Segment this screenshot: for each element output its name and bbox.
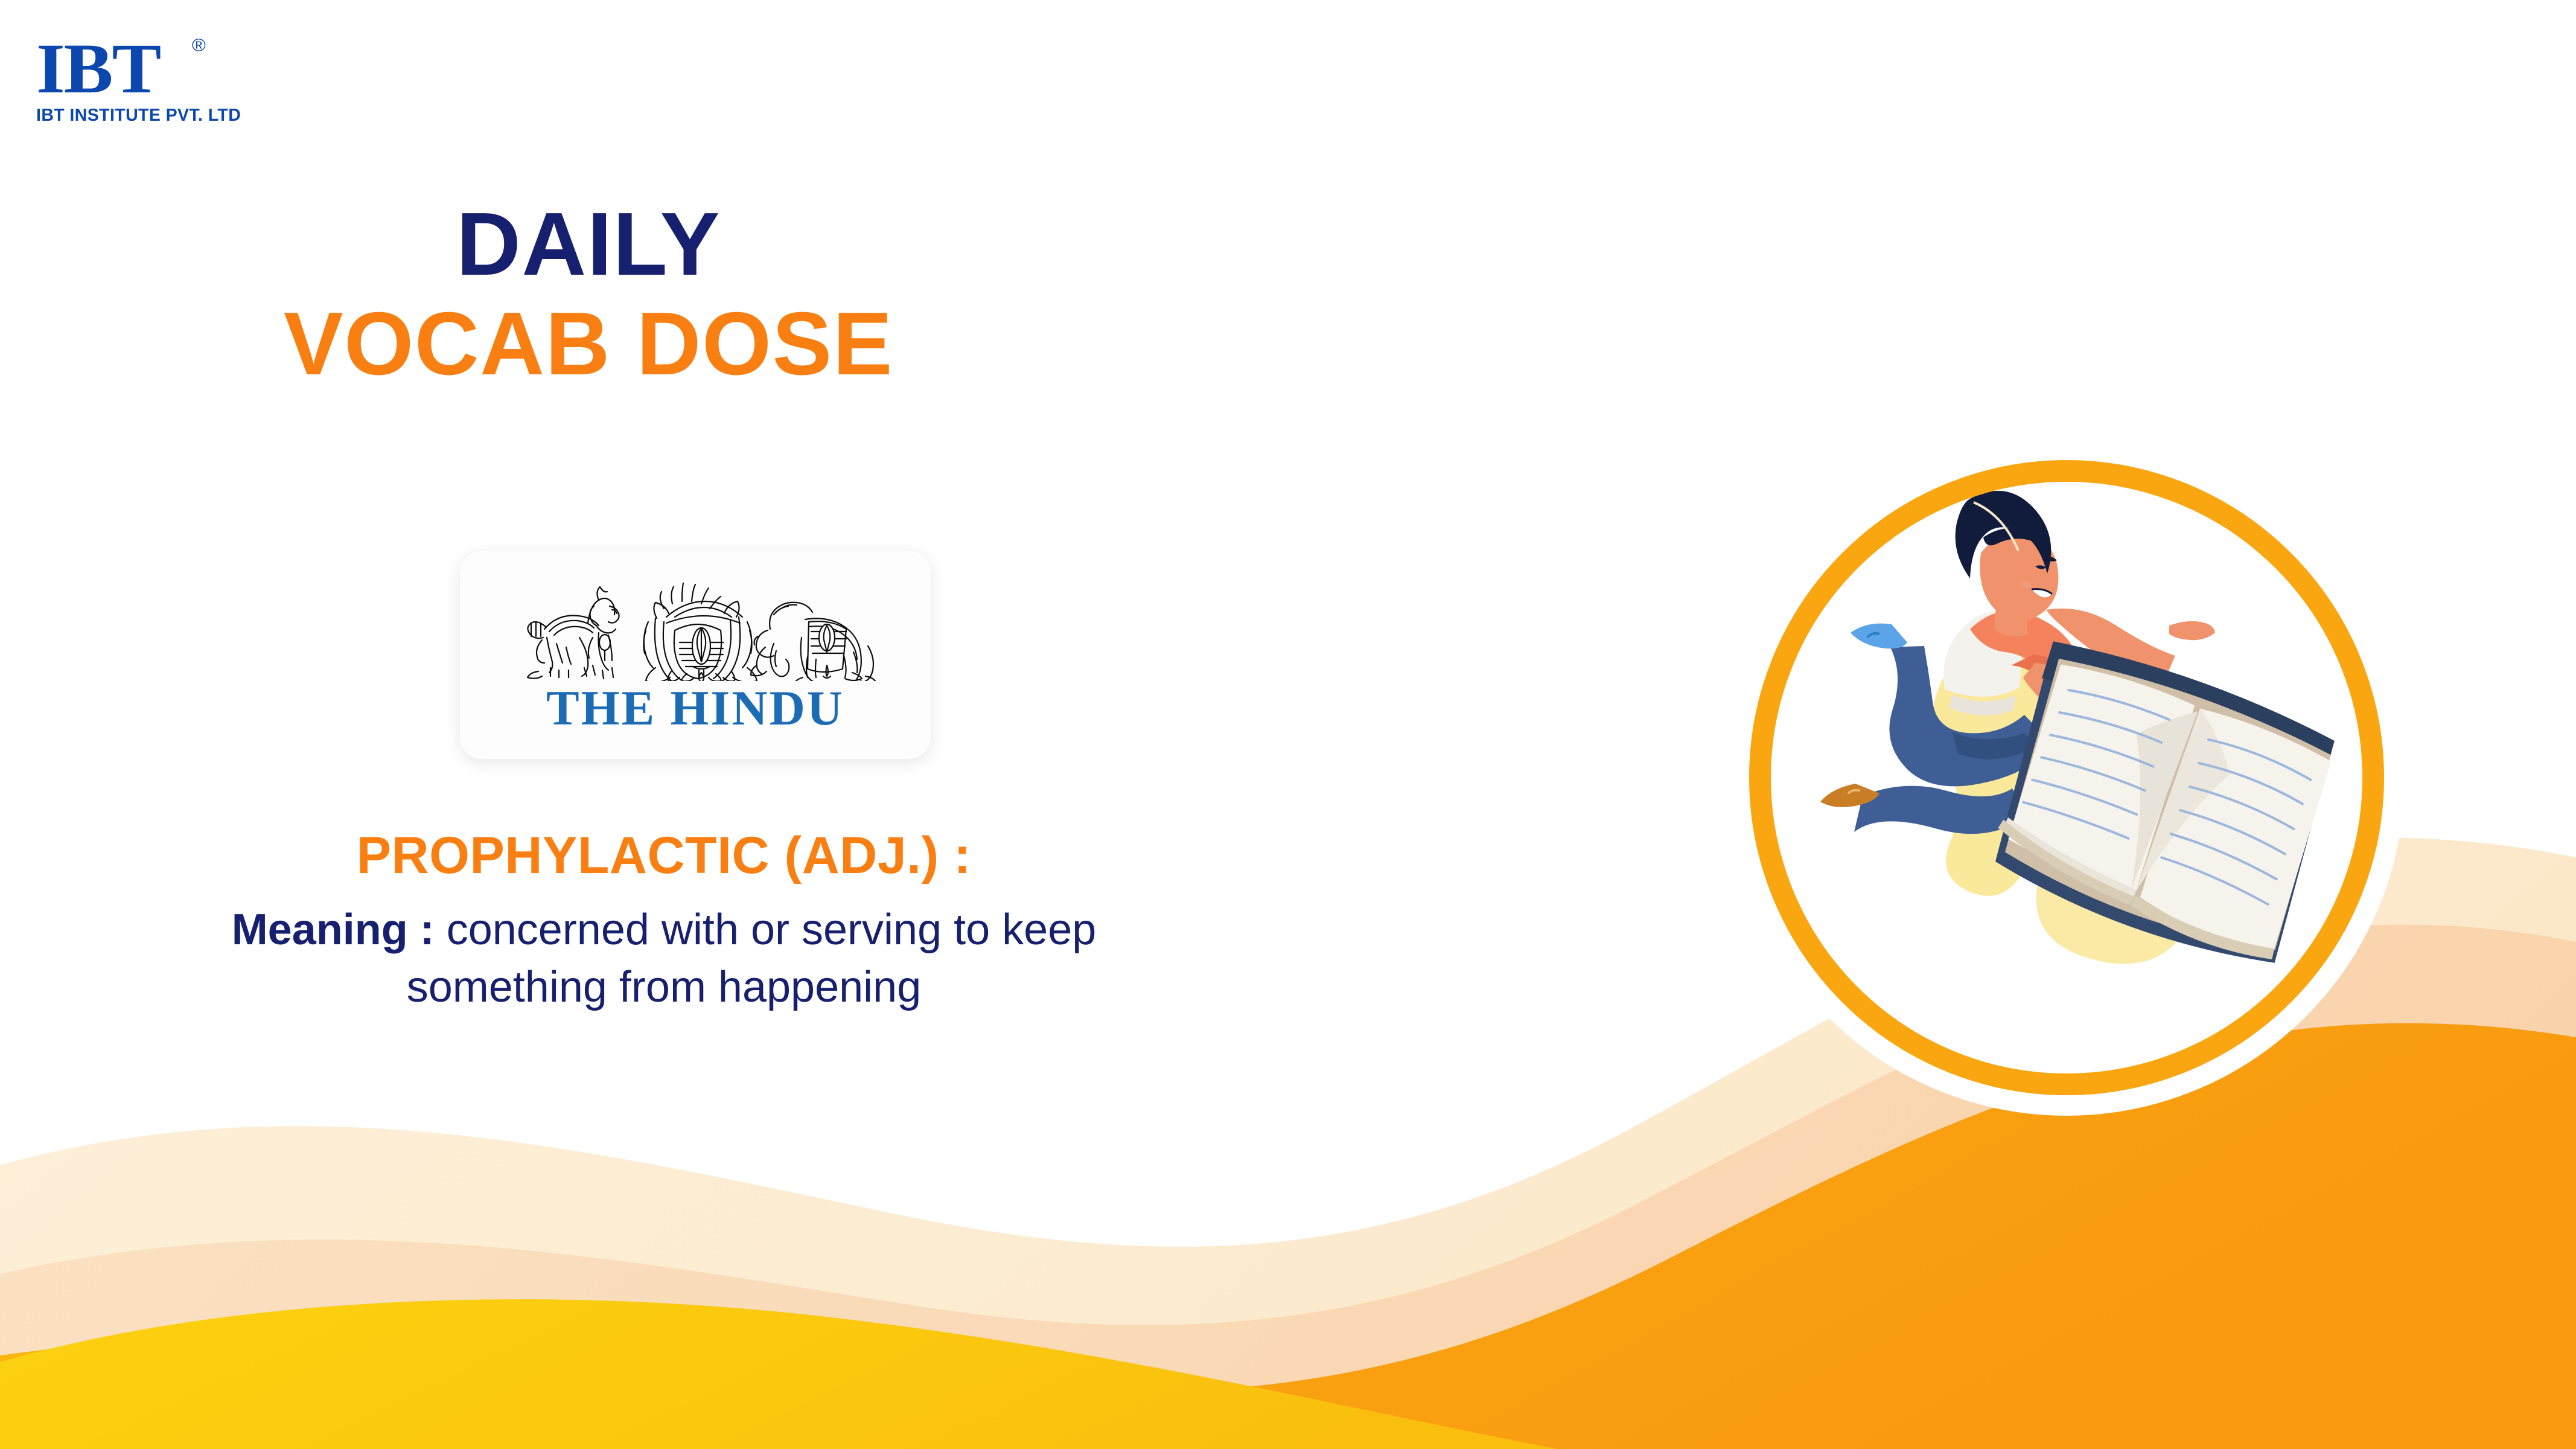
vocab-block: PROPHYLACTIC (ADJ.) : Meaning : concerne… — [0, 827, 1328, 1016]
woman-flying-with-open-book-icon — [1771, 482, 2362, 1073]
illustration-circle — [1749, 460, 2384, 1095]
meaning-label: Meaning : — [232, 906, 447, 954]
source-card-the-hindu: THE HINDU — [460, 551, 931, 759]
vocab-meaning: Meaning : concerned with or serving to k… — [193, 901, 1135, 1016]
ibt-logo: IBT ® IBT INSTITUTE PVT. LTD — [36, 33, 253, 124]
ibt-logo-subtitle: IBT INSTITUTE PVT. LTD — [36, 106, 253, 126]
vocab-word-heading: PROPHYLACTIC (ADJ.) : — [0, 827, 1328, 884]
the-hindu-emblem-icon — [508, 580, 882, 681]
ibt-logo-text: IBT — [36, 29, 160, 108]
ibt-logo-mark: IBT ® — [36, 33, 160, 104]
headline-line-vocab-dose: VOCAB DOSE — [0, 299, 1177, 390]
headline-line-daily: DAILY — [0, 199, 1177, 290]
the-hindu-wordmark: THE HINDU — [546, 683, 844, 733]
registered-trademark-icon: ® — [192, 37, 205, 55]
page-title: DAILY VOCAB DOSE — [0, 199, 1177, 390]
meaning-text: concerned with or serving to keep someth… — [407, 906, 1097, 1011]
